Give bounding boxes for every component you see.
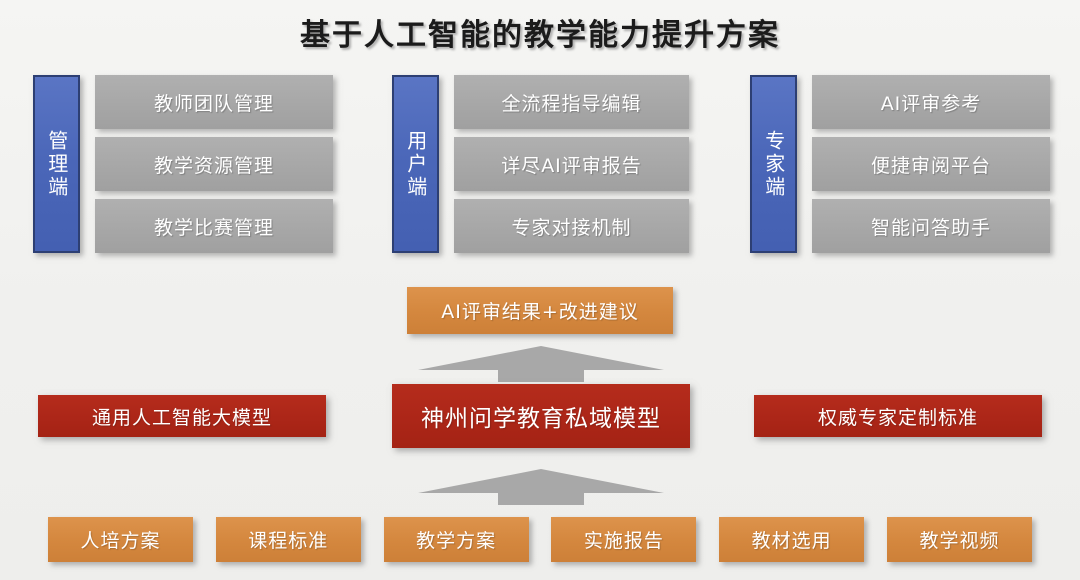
channel-tab-admin-label: 管理端 bbox=[45, 130, 67, 199]
artifact-chip[interactable]: 人培方案 bbox=[48, 517, 193, 562]
feature-row-label: 便捷审阅平台 bbox=[871, 151, 991, 178]
artifact-chip-label: 课程标准 bbox=[248, 526, 328, 553]
channel-tab-user[interactable]: 用户端 bbox=[392, 75, 439, 253]
feature-row-label: 教学比赛管理 bbox=[154, 213, 274, 240]
ai-result-box[interactable]: AI评审结果+改进建议 bbox=[407, 287, 673, 334]
channel-tab-expert-label: 专家端 bbox=[762, 130, 784, 199]
channel-group-expert: 专家端 AI评审参考 便捷审阅平台 智能问答助手 bbox=[750, 75, 1050, 253]
channel-group-user: 用户端 全流程指导编辑 详尽AI评审报告 专家对接机制 bbox=[392, 75, 689, 253]
feature-row-label: AI评审参考 bbox=[881, 89, 982, 116]
model-box-private-label: 神州问学教育私域模型 bbox=[421, 399, 661, 433]
artifact-chip[interactable]: 教材选用 bbox=[719, 517, 864, 562]
feature-row[interactable]: 专家对接机制 bbox=[454, 199, 689, 253]
artifact-chip-label: 教材选用 bbox=[752, 526, 832, 553]
channel-rows-admin: 教师团队管理 教学资源管理 教学比赛管理 bbox=[95, 75, 333, 253]
feature-row[interactable]: AI评审参考 bbox=[812, 75, 1050, 129]
feature-row-label: 教学资源管理 bbox=[154, 151, 274, 178]
feature-row-label: 全流程指导编辑 bbox=[501, 89, 641, 116]
channel-group-admin: 管理端 教师团队管理 教学资源管理 教学比赛管理 bbox=[33, 75, 333, 253]
feature-row[interactable]: 便捷审阅平台 bbox=[812, 137, 1050, 191]
artifact-chip[interactable]: 教学方案 bbox=[384, 517, 529, 562]
artifact-chip-label: 实施报告 bbox=[584, 526, 664, 553]
artifact-chip[interactable]: 实施报告 bbox=[551, 517, 696, 562]
feature-row-label: 教师团队管理 bbox=[154, 89, 274, 116]
channel-tab-user-label: 用户端 bbox=[404, 130, 426, 199]
artifact-chip-label: 教学方案 bbox=[416, 526, 496, 553]
feature-row[interactable]: 智能问答助手 bbox=[812, 199, 1050, 253]
channel-rows-user: 全流程指导编辑 详尽AI评审报告 专家对接机制 bbox=[454, 75, 689, 253]
artifact-chip-list: 人培方案 课程标准 教学方案 实施报告 教材选用 教学视频 bbox=[48, 517, 1032, 562]
feature-row-label: 智能问答助手 bbox=[871, 213, 991, 240]
page-title: 基于人工智能的教学能力提升方案 bbox=[0, 10, 1080, 54]
channel-tab-expert[interactable]: 专家端 bbox=[750, 75, 797, 253]
model-box-general[interactable]: 通用人工智能大模型 bbox=[38, 395, 326, 437]
ai-result-label: AI评审结果+改进建议 bbox=[441, 297, 639, 324]
model-box-standard-label: 权威专家定制标准 bbox=[818, 403, 978, 430]
slide-canvas: 基于人工智能的教学能力提升方案 管理端 教师团队管理 教学资源管理 教学比赛管理… bbox=[0, 0, 1080, 580]
artifact-chip-label: 人培方案 bbox=[80, 526, 160, 553]
feature-row[interactable]: 教学比赛管理 bbox=[95, 199, 333, 253]
feature-row-label: 专家对接机制 bbox=[511, 213, 631, 240]
artifact-chip[interactable]: 课程标准 bbox=[216, 517, 361, 562]
feature-row[interactable]: 教学资源管理 bbox=[95, 137, 333, 191]
artifact-chip-label: 教学视频 bbox=[919, 526, 999, 553]
arrow-up-icon bbox=[418, 467, 664, 505]
feature-row[interactable]: 详尽AI评审报告 bbox=[454, 137, 689, 191]
model-box-general-label: 通用人工智能大模型 bbox=[92, 403, 272, 430]
artifact-chip[interactable]: 教学视频 bbox=[887, 517, 1032, 562]
model-box-private[interactable]: 神州问学教育私域模型 bbox=[392, 384, 690, 448]
feature-row[interactable]: 教师团队管理 bbox=[95, 75, 333, 129]
model-box-standard[interactable]: 权威专家定制标准 bbox=[754, 395, 1042, 437]
arrow-up-icon bbox=[418, 344, 664, 382]
feature-row-label: 详尽AI评审报告 bbox=[501, 151, 642, 178]
feature-row[interactable]: 全流程指导编辑 bbox=[454, 75, 689, 129]
channel-rows-expert: AI评审参考 便捷审阅平台 智能问答助手 bbox=[812, 75, 1050, 253]
channel-tab-admin[interactable]: 管理端 bbox=[33, 75, 80, 253]
